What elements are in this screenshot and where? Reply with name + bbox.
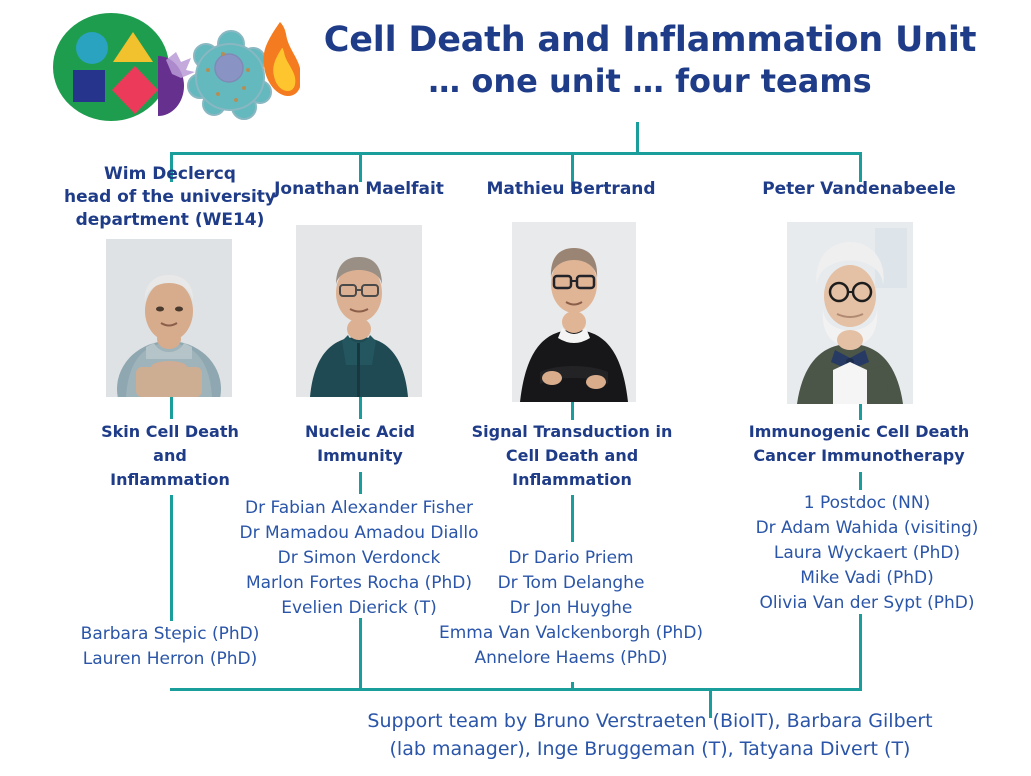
list-item: Dr Fabian Alexander Fisher <box>209 496 509 521</box>
team-title-3: Signal Transduction in Cell Death and In… <box>461 420 683 492</box>
connector-bottom-bus <box>170 688 862 691</box>
team-title-3-line-1: Signal Transduction in <box>461 420 683 444</box>
connector-team-stem-3 <box>571 495 574 542</box>
leader-name-4: Peter Vandenabeele <box>739 178 979 201</box>
connector-photo-stem-2 <box>359 397 362 419</box>
member-list-3: Dr Dario Priem Dr Tom Delanghe Dr Jon Hu… <box>431 546 711 671</box>
team-title-2: Nucleic Acid Immunity <box>254 420 466 468</box>
list-item: Emma Van Valckenborgh (PhD) <box>431 621 711 646</box>
page-title: Cell Death and Inflammation Unit … one u… <box>300 20 1000 103</box>
team-title-1: Skin Cell Death and Inflammation <box>60 420 280 492</box>
connector-photo-stem-3 <box>571 402 574 420</box>
list-item: Dr Mamadou Amadou Diallo <box>209 521 509 546</box>
connector-members-stem-2 <box>359 618 362 690</box>
list-item: Lauren Herron (PhD) <box>40 647 300 672</box>
leader-name-1-line-3: department (WE14) <box>24 209 316 232</box>
connector-top-bus <box>170 152 862 155</box>
portrait-wim-declercq <box>106 239 232 397</box>
list-item: Dr Dario Priem <box>431 546 711 571</box>
support-line-2: (lab manager), Inge Bruggeman (T), Tatya… <box>300 736 1000 764</box>
connector-team-stem-2 <box>359 472 362 494</box>
list-item: Olivia Van der Sypt (PhD) <box>739 591 995 616</box>
portrait-peter-vandenabeele <box>787 222 913 404</box>
list-item: Dr Tom Delanghe <box>431 571 711 596</box>
team-title-2-line-1: Nucleic Acid <box>254 420 466 444</box>
cell-death-inflammation-logo <box>48 8 300 126</box>
team-title-4: Immunogenic Cell Death Cancer Immunother… <box>725 420 993 468</box>
title-line-2: … one unit … four teams <box>300 61 1000 103</box>
connector-title-stem <box>636 122 639 154</box>
team-title-4-line-1: Immunogenic Cell Death <box>725 420 993 444</box>
member-list-4: 1 Postdoc (NN) Dr Adam Wahida (visiting)… <box>739 491 995 616</box>
list-item: Barbara Stepic (PhD) <box>40 622 300 647</box>
connector-team-stem-1 <box>170 495 173 621</box>
team-title-3-line-2: Cell Death and <box>461 444 683 468</box>
leader-name-2-line-1: Jonathan Maelfait <box>239 178 479 201</box>
list-item: 1 Postdoc (NN) <box>739 491 995 516</box>
support-team-text: Support team by Bruno Verstraeten (BioIT… <box>300 708 1000 763</box>
org-chart-canvas: Cell Death and Inflammation Unit … one u… <box>0 0 1031 776</box>
leader-name-2: Jonathan Maelfait <box>239 178 479 201</box>
team-title-1-line-1: Skin Cell Death <box>60 420 280 444</box>
connector-photo-stem-4 <box>859 404 862 420</box>
leader-name-3: Mathieu Bertrand <box>451 178 691 201</box>
list-item: Laura Wyckaert (PhD) <box>739 541 995 566</box>
connector-bottom-tick-col-3 <box>571 682 574 690</box>
connector-members-stem-4 <box>859 614 862 690</box>
team-title-1-line-3: Inflammation <box>60 468 280 492</box>
team-title-1-line-2: and <box>60 444 280 468</box>
support-line-1: Support team by Bruno Verstraeten (BioIT… <box>300 708 1000 736</box>
connector-photo-stem-1 <box>170 397 173 419</box>
portrait-jonathan-maelfait <box>296 225 422 397</box>
list-item: Dr Jon Huyghe <box>431 596 711 621</box>
team-title-2-line-2: Immunity <box>254 444 466 468</box>
list-item: Annelore Haems (PhD) <box>431 646 711 671</box>
leader-name-3-line-1: Mathieu Bertrand <box>451 178 691 201</box>
title-line-1: Cell Death and Inflammation Unit <box>300 20 1000 61</box>
list-item: Dr Adam Wahida (visiting) <box>739 516 995 541</box>
connector-team-stem-4 <box>859 472 862 490</box>
leader-name-4-line-1: Peter Vandenabeele <box>739 178 979 201</box>
team-title-3-line-3: Inflammation <box>461 468 683 492</box>
member-list-1: Barbara Stepic (PhD) Lauren Herron (PhD) <box>40 622 300 672</box>
list-item: Mike Vadi (PhD) <box>739 566 995 591</box>
team-title-4-line-2: Cancer Immunotherapy <box>725 444 993 468</box>
portrait-mathieu-bertrand <box>512 222 636 402</box>
